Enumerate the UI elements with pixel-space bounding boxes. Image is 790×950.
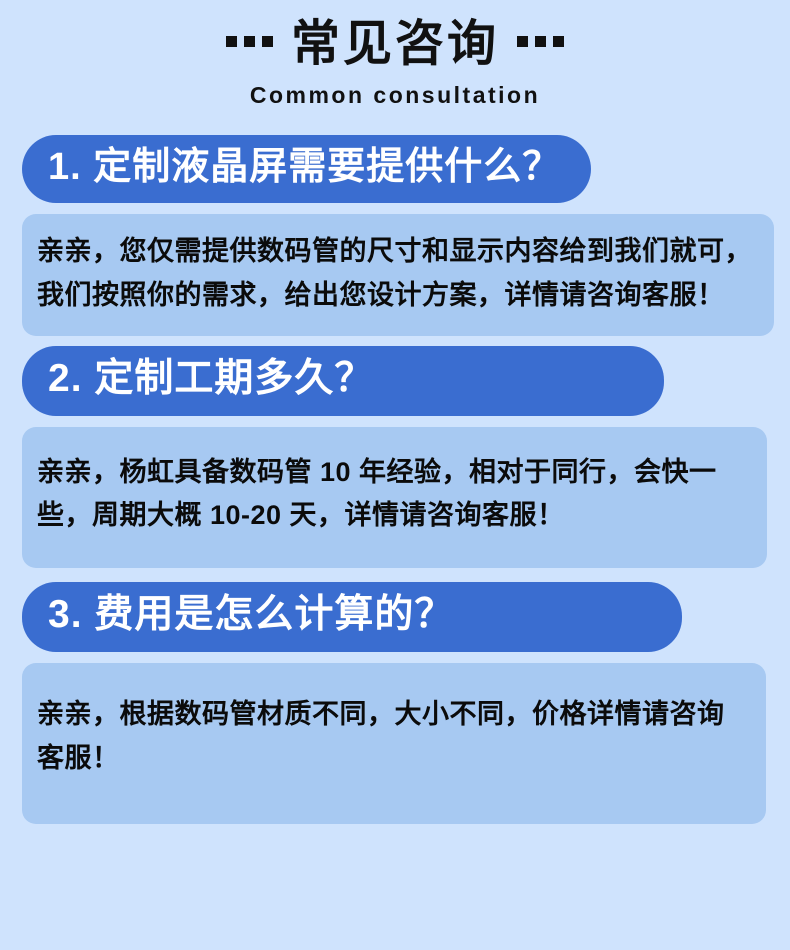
faq-question-2[interactable]: 2. 定制工期多久？ [22,346,664,416]
page-title: 常见咨询 [0,18,790,72]
faq-answer-2: 亲亲，杨虹具备数码管 10 年经验，相对于同行，会快一些，周期大概 10-20 … [22,427,767,568]
left-dots-decoration [226,36,273,53]
page-subtitle: Common consultation [0,82,790,109]
right-dots-decoration [517,36,564,53]
faq-list: 1. 定制液晶屏需要提供什么？ 亲亲，您仅需提供数码管的尺寸和显示内容给到我们就… [0,135,790,824]
faq-page: 常见咨询 Common consultation 1. 定制液晶屏需要提供什么？… [0,0,790,950]
faq-question-3[interactable]: 3. 费用是怎么计算的？ [22,582,682,652]
faq-item-3: 3. 费用是怎么计算的？ 亲亲，根据数码管材质不同，大小不同，价格详情请咨询客服… [0,582,790,824]
faq-item-2: 2. 定制工期多久？ 亲亲，杨虹具备数码管 10 年经验，相对于同行，会快一些，… [0,346,790,568]
faq-question-1[interactable]: 1. 定制液晶屏需要提供什么？ [22,135,591,204]
faq-item-1: 1. 定制液晶屏需要提供什么？ 亲亲，您仅需提供数码管的尺寸和显示内容给到我们就… [0,135,790,336]
faq-answer-1: 亲亲，您仅需提供数码管的尺寸和显示内容给到我们就可，我们按照你的需求，给出您设计… [22,214,774,335]
faq-answer-3: 亲亲，根据数码管材质不同，大小不同，价格详情请咨询客服！ [22,663,766,824]
page-header: 常见咨询 Common consultation [0,0,790,109]
page-title-text: 常见咨询 [291,18,499,72]
